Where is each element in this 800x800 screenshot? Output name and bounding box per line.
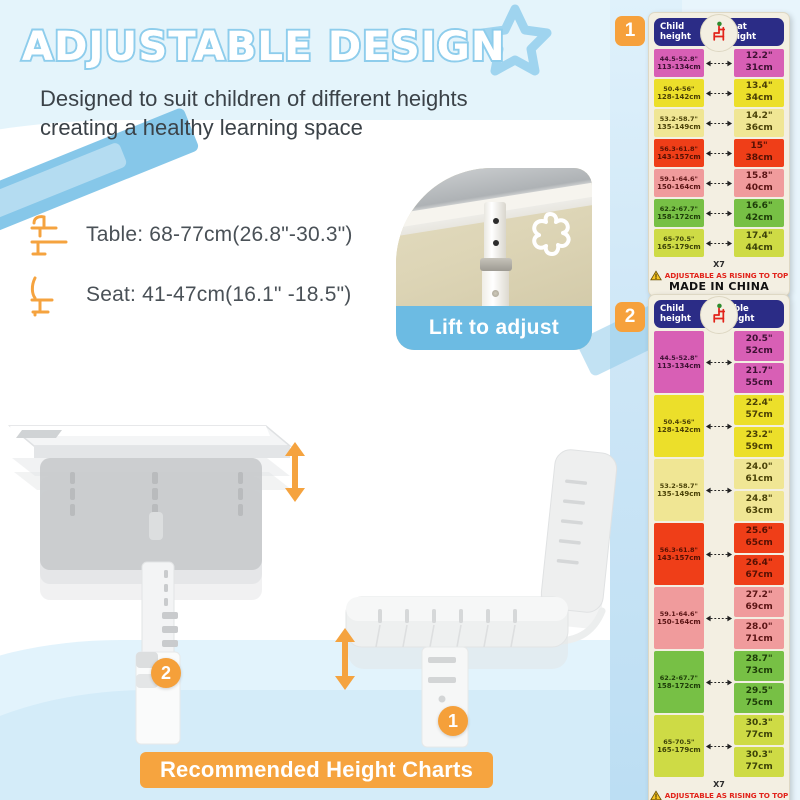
value-inches: 20.5" [746,334,773,346]
seat-height-column: 12.2"31cm13.4"34cm14.2"36cm15"38cm15.8"4… [734,49,784,257]
child-height-cell: 59.1-64.6"150-164cm [654,587,704,649]
seat-height-cell: 12.2"31cm [734,49,784,77]
photo-screw-1 [492,290,499,297]
range-link [705,459,733,521]
value-inches: 28.0" [746,622,773,634]
chart-marker-1-text: 1 [625,20,636,42]
double-arrow-icon [705,59,733,68]
child-height-cm: 165-179cm [657,746,701,755]
child-height-inches: 65-70.5" [663,738,694,746]
photo-adjust-hole-1 [493,218,499,224]
table-height-cell: 28.7"73cm [734,651,784,681]
chair-step-badge: 1 [438,706,468,736]
desk-up-down-arrow-icon [282,440,308,504]
child-height-column: 44.5-52.8"113-134cm50.4-56"128-142cm53.2… [654,331,704,777]
warning-row: ADJUSTABLE AS RISING TO TOP [649,790,789,800]
infographic-canvas: ADJUSTABLE DESIGN ADJUSTABLE DESIGN Desi… [0,0,800,800]
seat-height-cell: 15.8"40cm [734,169,784,197]
value-inches: 17.4" [746,231,773,243]
value-inches: 29.5" [746,686,773,698]
child-height-inches: 59.1-64.6" [660,175,698,183]
child-height-cell: 56.3-61.8"143-157cm [654,139,704,167]
seat-height-chart: Child heightSeat height44.5-52.8"113-134… [648,12,790,297]
chair-step-badge-text: 1 [448,711,458,732]
value-cm: 65cm [746,538,773,550]
page-subtitle-line2: creating a healthy learning space [40,113,600,142]
value-cm: 38cm [746,153,773,165]
table-height-cell: 30.3"77cm [734,747,784,777]
value-inches: 30.3" [746,750,773,762]
child-height-inches: 50.4-56" [663,85,694,93]
desk-step-badge-text: 2 [161,663,171,684]
value-cm: 52cm [746,346,773,358]
child-height-inches: 44.5-52.8" [660,55,698,63]
child-height-inches: 59.1-64.6" [660,610,698,618]
value-cm: 44cm [746,243,773,255]
seat-height-cell: 14.2"36cm [734,109,784,137]
value-cm: 63cm [746,506,773,518]
chair-up-down-arrow-icon [332,626,358,692]
value-inches: 14.2" [746,111,773,123]
table-height-cell: 20.5"52cm [734,331,784,361]
child-height-cell: 53.2-58.7"135-149cm [654,109,704,137]
flower-icon [524,208,576,260]
double-arrow-icon [705,179,733,188]
child-height-inches: 50.4-56" [663,418,694,426]
range-link [705,79,733,107]
range-link [705,651,733,713]
range-link [705,139,733,167]
table-height-cell: 24.8"63cm [734,491,784,521]
child-height-cm: 158-172cm [657,682,701,691]
link-column [704,49,735,257]
value-cm: 67cm [746,570,773,582]
table-height-cell: 30.3"77cm [734,715,784,745]
table-height-chart: Child heightTable height44.5-52.8"113-13… [648,294,790,800]
value-cm: 40cm [746,183,773,195]
child-height-cell: 44.5-52.8"113-134cm [654,331,704,393]
child-height-cell: 50.4-56"128-142cm [654,79,704,107]
chair-side-icon [26,272,72,318]
child-height-column: 44.5-52.8"113-134cm50.4-56"128-142cm53.2… [654,49,704,257]
range-link [705,169,733,197]
chart-marker-1: 1 [615,16,645,46]
value-cm: 42cm [746,213,773,225]
value-cm: 75cm [746,698,773,710]
value-inches: 15.8" [746,171,773,183]
child-height-cell: 53.2-58.7"135-149cm [654,459,704,521]
child-height-inches: 56.3-61.8" [660,546,698,554]
chart-body: 44.5-52.8"113-134cm50.4-56"128-142cm53.2… [649,331,789,779]
child-height-inches: 62.2-67.7" [660,205,698,213]
child-height-inches: 44.5-52.8" [660,354,698,362]
table-height-cell: 27.2"69cm [734,587,784,617]
desk-step-badge: 2 [151,658,181,688]
warning-triangle-icon [650,790,662,800]
value-cm: 57cm [746,410,773,422]
value-inches: 16.6" [746,201,773,213]
value-inches: 23.2" [746,430,773,442]
child-height-cm: 158-172cm [657,213,701,222]
multiplier-label: X7 [649,780,789,789]
page-title: ADJUSTABLE DESIGN [22,24,506,70]
value-inches: 27.2" [746,590,773,602]
double-arrow-icon [705,678,733,687]
value-cm: 55cm [746,378,773,390]
child-height-inches: 62.2-67.7" [660,674,698,682]
range-link [705,587,733,649]
value-inches: 26.4" [746,558,773,570]
child-height-cm: 143-157cm [657,554,701,563]
double-arrow-icon [705,149,733,158]
value-cm: 77cm [746,730,773,742]
child-height-inches: 53.2-58.7" [660,115,698,123]
value-cm: 36cm [746,123,773,135]
value-cm: 59cm [746,442,773,454]
value-inches: 12.2" [746,51,773,63]
double-arrow-icon [705,239,733,248]
value-inches: 21.7" [746,366,773,378]
value-cm: 61cm [746,474,773,486]
child-height-cell: 62.2-67.7"158-172cm [654,651,704,713]
child-height-inches: 56.3-61.8" [660,145,698,153]
child-height-cell: 65-70.5"165-179cm [654,715,704,777]
value-inches: 24.0" [746,462,773,474]
value-inches: 24.8" [746,494,773,506]
child-sitting-desk-icon [706,302,732,328]
warning-text: ADJUSTABLE AS RISING TO TOP [665,271,788,280]
double-arrow-icon [705,614,733,623]
child-height-cm: 128-142cm [657,426,701,435]
value-cm: 69cm [746,602,773,614]
value-cm: 73cm [746,666,773,678]
value-inches: 25.6" [746,526,773,538]
range-link [705,49,733,77]
table-height-cell: 26.4"67cm [734,555,784,585]
range-link [705,199,733,227]
warning-text: ADJUSTABLE AS RISING TO TOP [665,791,788,800]
double-arrow-icon [705,422,733,431]
photo-adjust-hole-2 [493,240,499,246]
child-height-cm: 143-157cm [657,153,701,162]
seat-height-cell: 16.6"42cm [734,199,784,227]
child-height-cm: 135-149cm [657,123,701,132]
photo-caption-text: Lift to adjust [429,316,559,340]
child-height-inches: 53.2-58.7" [660,482,698,490]
child-height-cell: 56.3-61.8"143-157cm [654,523,704,585]
range-link [705,395,733,457]
table-height-cell: 24.0"61cm [734,459,784,489]
child-sitting-chair-icon [706,20,732,46]
child-height-cm: 150-164cm [657,618,701,627]
chart-header-icon-badge [700,296,738,334]
recommended-charts-ribbon: Recommended Height Charts [140,752,493,788]
table-height-cell: 29.5"75cm [734,683,784,713]
page-subtitle: Designed to suit children of different h… [40,84,600,142]
child-height-cell: 59.1-64.6"150-164cm [654,169,704,197]
table-height-cell: 28.0"71cm [734,619,784,649]
spec-table-text: Table: 68-77cm(26.8"-30.3") [86,223,353,247]
double-arrow-icon [705,486,733,495]
table-height-column: 20.5"52cm21.7"55cm22.4"57cm23.2"59cm24.0… [734,331,784,777]
value-inches: 13.4" [746,81,773,93]
range-link [705,523,733,585]
recommended-charts-label: Recommended Height Charts [160,757,473,783]
value-inches: 15" [751,141,768,153]
child-height-cm: 150-164cm [657,183,701,192]
range-link [705,715,733,777]
table-height-cell: 21.7"55cm [734,363,784,393]
photo-leg-collar [480,258,512,271]
chart-header: Child heightSeat height [654,18,784,46]
child-height-cm: 165-179cm [657,243,701,252]
value-cm: 34cm [746,93,773,105]
double-arrow-icon [705,742,733,751]
table-height-cell: 23.2"59cm [734,427,784,457]
double-arrow-icon [705,119,733,128]
double-arrow-icon [705,89,733,98]
child-height-cm: 113-134cm [657,63,701,72]
warning-triangle-icon [650,270,662,281]
value-cm: 77cm [746,762,773,774]
spec-row-seat: Seat: 41-47cm(16.1" -18.5") [26,272,351,318]
child-height-cm: 128-142cm [657,93,701,102]
page-subtitle-line1: Designed to suit children of different h… [40,84,600,113]
table-height-cell: 25.6"65cm [734,523,784,553]
multiplier-label: X7 [649,260,789,269]
chart-body: 44.5-52.8"113-134cm50.4-56"128-142cm53.2… [649,49,789,259]
link-column [704,331,735,777]
value-inches: 22.4" [746,398,773,410]
value-inches: 30.3" [746,718,773,730]
spec-row-table: Table: 68-77cm(26.8"-30.3") [26,212,353,258]
range-link [705,229,733,257]
child-height-cell: 50.4-56"128-142cm [654,395,704,457]
child-height-inches: 65-70.5" [663,235,694,243]
double-arrow-icon [705,358,733,367]
table-height-cell: 22.4"57cm [734,395,784,425]
desk-illustration [4,412,324,752]
child-height-cell: 44.5-52.8"113-134cm [654,49,704,77]
range-link [705,331,733,393]
chair-illustration [330,425,630,755]
range-link [705,109,733,137]
seat-height-cell: 15"38cm [734,139,784,167]
chart-marker-2: 2 [615,302,645,332]
spec-seat-text: Seat: 41-47cm(16.1" -18.5") [86,283,351,307]
value-inches: 28.7" [746,654,773,666]
double-arrow-icon [705,209,733,218]
chart-header-icon-badge [700,14,738,52]
chart-marker-2-text: 2 [625,306,636,328]
chart-header: Child heightTable height [654,300,784,328]
child-height-cell: 65-70.5"165-179cm [654,229,704,257]
seat-height-cell: 13.4"34cm [734,79,784,107]
desk-side-icon [26,212,72,258]
photo-caption-band: Lift to adjust [396,306,592,350]
double-arrow-icon [705,550,733,559]
child-height-cell: 62.2-67.7"158-172cm [654,199,704,227]
seat-height-cell: 17.4"44cm [734,229,784,257]
value-cm: 71cm [746,634,773,646]
value-cm: 31cm [746,63,773,75]
child-height-cm: 135-149cm [657,490,701,499]
child-height-cm: 113-134cm [657,362,701,371]
